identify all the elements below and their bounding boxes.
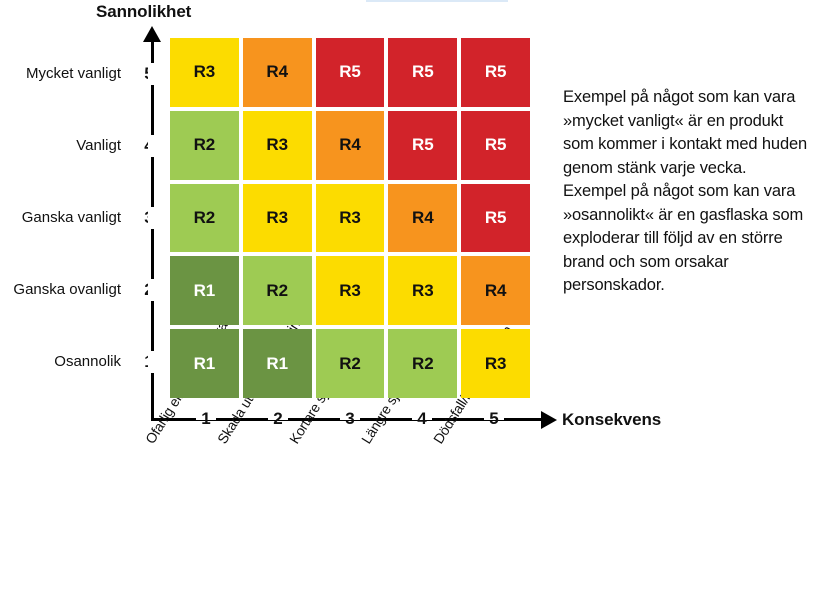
risk-matrix-cell: R2 (243, 256, 312, 325)
y-axis-tick-row: Ganska ovanligt2 (0, 280, 148, 300)
risk-matrix-cell: R5 (388, 38, 457, 107)
y-axis-tick-label: Mycket vanligt (0, 64, 121, 84)
risk-matrix-cell: R3 (243, 111, 312, 180)
y-axis-title: Sannolikhet (96, 2, 191, 22)
risk-matrix-cell: R3 (316, 256, 385, 325)
y-axis-tick-label: Osannolik (0, 352, 121, 372)
y-axis-tick-row: Mycket vanligt5 (0, 64, 148, 84)
risk-matrix-cell: R5 (388, 111, 457, 180)
top-edge-artifact (366, 0, 508, 2)
risk-matrix-cell: R5 (316, 38, 385, 107)
x-axis-tick-number: 5 (484, 409, 504, 429)
y-axis-tick-label: Vanligt (0, 136, 121, 156)
risk-matrix-cell: R1 (243, 329, 312, 398)
risk-matrix-cell: R4 (243, 38, 312, 107)
risk-matrix-cell: R5 (461, 184, 530, 253)
y-axis-arrow-icon (143, 26, 161, 42)
risk-matrix-cell: R3 (461, 329, 530, 398)
risk-matrix-cell: R5 (461, 111, 530, 180)
x-axis-tick-number: 2 (268, 409, 288, 429)
risk-matrix-cell: R2 (388, 329, 457, 398)
risk-matrix-cell: R2 (170, 111, 239, 180)
risk-matrix-cell: R1 (170, 256, 239, 325)
example-description: Exempel på något som kan vara »mycket va… (563, 86, 813, 298)
risk-matrix-cell: R4 (388, 184, 457, 253)
y-axis-tick-gap (148, 279, 157, 301)
y-axis-tick-gap (148, 207, 157, 229)
risk-matrix-cell: R2 (170, 184, 239, 253)
risk-matrix-cell: R4 (316, 111, 385, 180)
y-axis-tick-row: Vanligt4 (0, 136, 148, 156)
risk-matrix-cell: R3 (388, 256, 457, 325)
y-axis-tick-label: Ganska ovanligt (0, 280, 121, 300)
y-axis-tick-gap (148, 63, 157, 85)
risk-matrix-cell: R3 (316, 184, 385, 253)
x-axis-tick-number: 1 (196, 409, 216, 429)
risk-matrix-cell: R5 (461, 38, 530, 107)
y-axis-tick-label: Ganska vanligt (0, 208, 121, 228)
x-axis-title: Konsekvens (562, 410, 661, 430)
risk-matrix-cell: R2 (316, 329, 385, 398)
y-axis-tick-gap (148, 351, 157, 373)
y-axis-tick-row: Ganska vanligt3 (0, 208, 148, 228)
risk-matrix-grid: R3R4R5R5R5R2R3R4R5R5R2R3R3R4R5R1R2R3R3R4… (170, 38, 530, 398)
risk-matrix-cell: R4 (461, 256, 530, 325)
risk-matrix-cell: R3 (243, 184, 312, 253)
risk-matrix-cell: R3 (170, 38, 239, 107)
x-axis-tick-number: 3 (340, 409, 360, 429)
risk-matrix-cell: R1 (170, 329, 239, 398)
x-axis-tick-number: 4 (412, 409, 432, 429)
y-axis-tick-row: Osannolik1 (0, 352, 148, 372)
risk-matrix-figure: Sannolikhet Konsekvens Mycket vanligt5Va… (0, 0, 816, 603)
y-axis-tick-gap (148, 135, 157, 157)
x-axis-arrow-icon (541, 411, 557, 429)
